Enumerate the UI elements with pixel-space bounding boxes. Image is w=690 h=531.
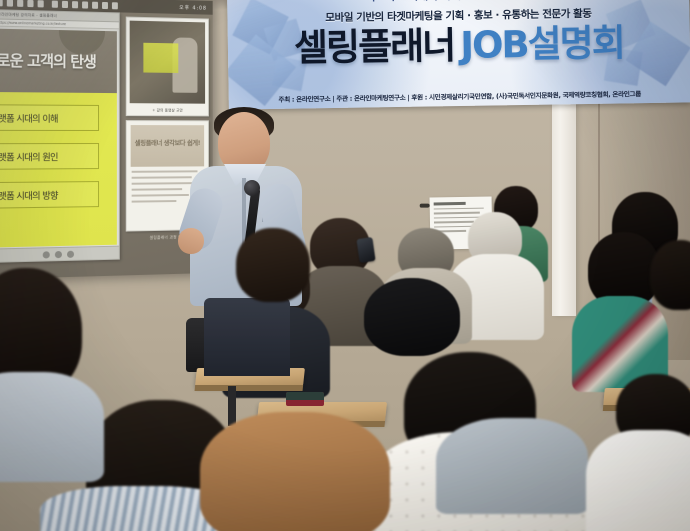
slide-bullet-3-label: 플랫폼 시대의 방향 (0, 188, 58, 202)
slide-bullet-1-label: 플랫폼 시대의 이해 (0, 111, 58, 124)
slide-bullet-1: 플랫폼 시대의 이해 (0, 104, 99, 131)
taskbar-clock: 오후 4:08 (179, 4, 207, 12)
wall-pillar (552, 96, 576, 316)
slide-bullet-2-label: 플랫폼 시대의 원인 (0, 150, 58, 163)
microphone-head-icon (244, 180, 260, 196)
audience-head-man-front-center (236, 228, 310, 302)
slide-title: 새로운 고객의 탄생 (0, 49, 96, 72)
banner-title-accent: JOB설명회 (460, 21, 624, 67)
banner-title-main: 셀링플래너 (294, 24, 455, 70)
presentation-slide: 새로운 고객의 탄생 플랫폼 시대의 이해 플랫폼 시대의 원인 플랫폼 시대의… (0, 29, 117, 248)
audience-head-black-cap (364, 278, 460, 356)
seminar-photo-scene: 비즈니스 시대의 마케팅은 이렇게 바뀐다! 모바일 기반의 타겟마케팅을 기획… (0, 0, 690, 531)
thumbnail-photo (130, 21, 205, 104)
audience-body-white-blouse (586, 430, 690, 531)
projected-browser-window: 온라인마케팅 강의자료 - 셀링플래너 https://www.onlinema… (0, 9, 120, 263)
slide-bullet-3: 플랫폼 시대의 방향 (0, 181, 99, 209)
slide-header-photo: 새로운 고객의 탄생 (0, 29, 117, 93)
audience-body-woman-far-left (0, 372, 104, 482)
event-banner: 비즈니스 시대의 마케팅은 이렇게 바뀐다! 모바일 기반의 타겟마케팅을 기획… (227, 0, 690, 110)
browser-status-bar (0, 246, 119, 262)
slide-thumbnail-video: + 강의 동영상 교안 (126, 17, 209, 117)
notebook-on-desk (286, 392, 324, 406)
banner-title: 셀링플래너JOB설명회 (228, 18, 690, 73)
notice-pin (420, 204, 430, 208)
presenter-left-hand (178, 228, 204, 254)
raised-smartphone (356, 237, 375, 263)
audience-body-grey-shirt-front (436, 418, 588, 514)
audience-head-woman-brown-hair (200, 412, 390, 531)
desk-leg-1 (228, 386, 236, 426)
presenter-trousers (204, 298, 290, 376)
slide-bullet-2: 플랫폼 시대의 원인 (0, 143, 99, 170)
